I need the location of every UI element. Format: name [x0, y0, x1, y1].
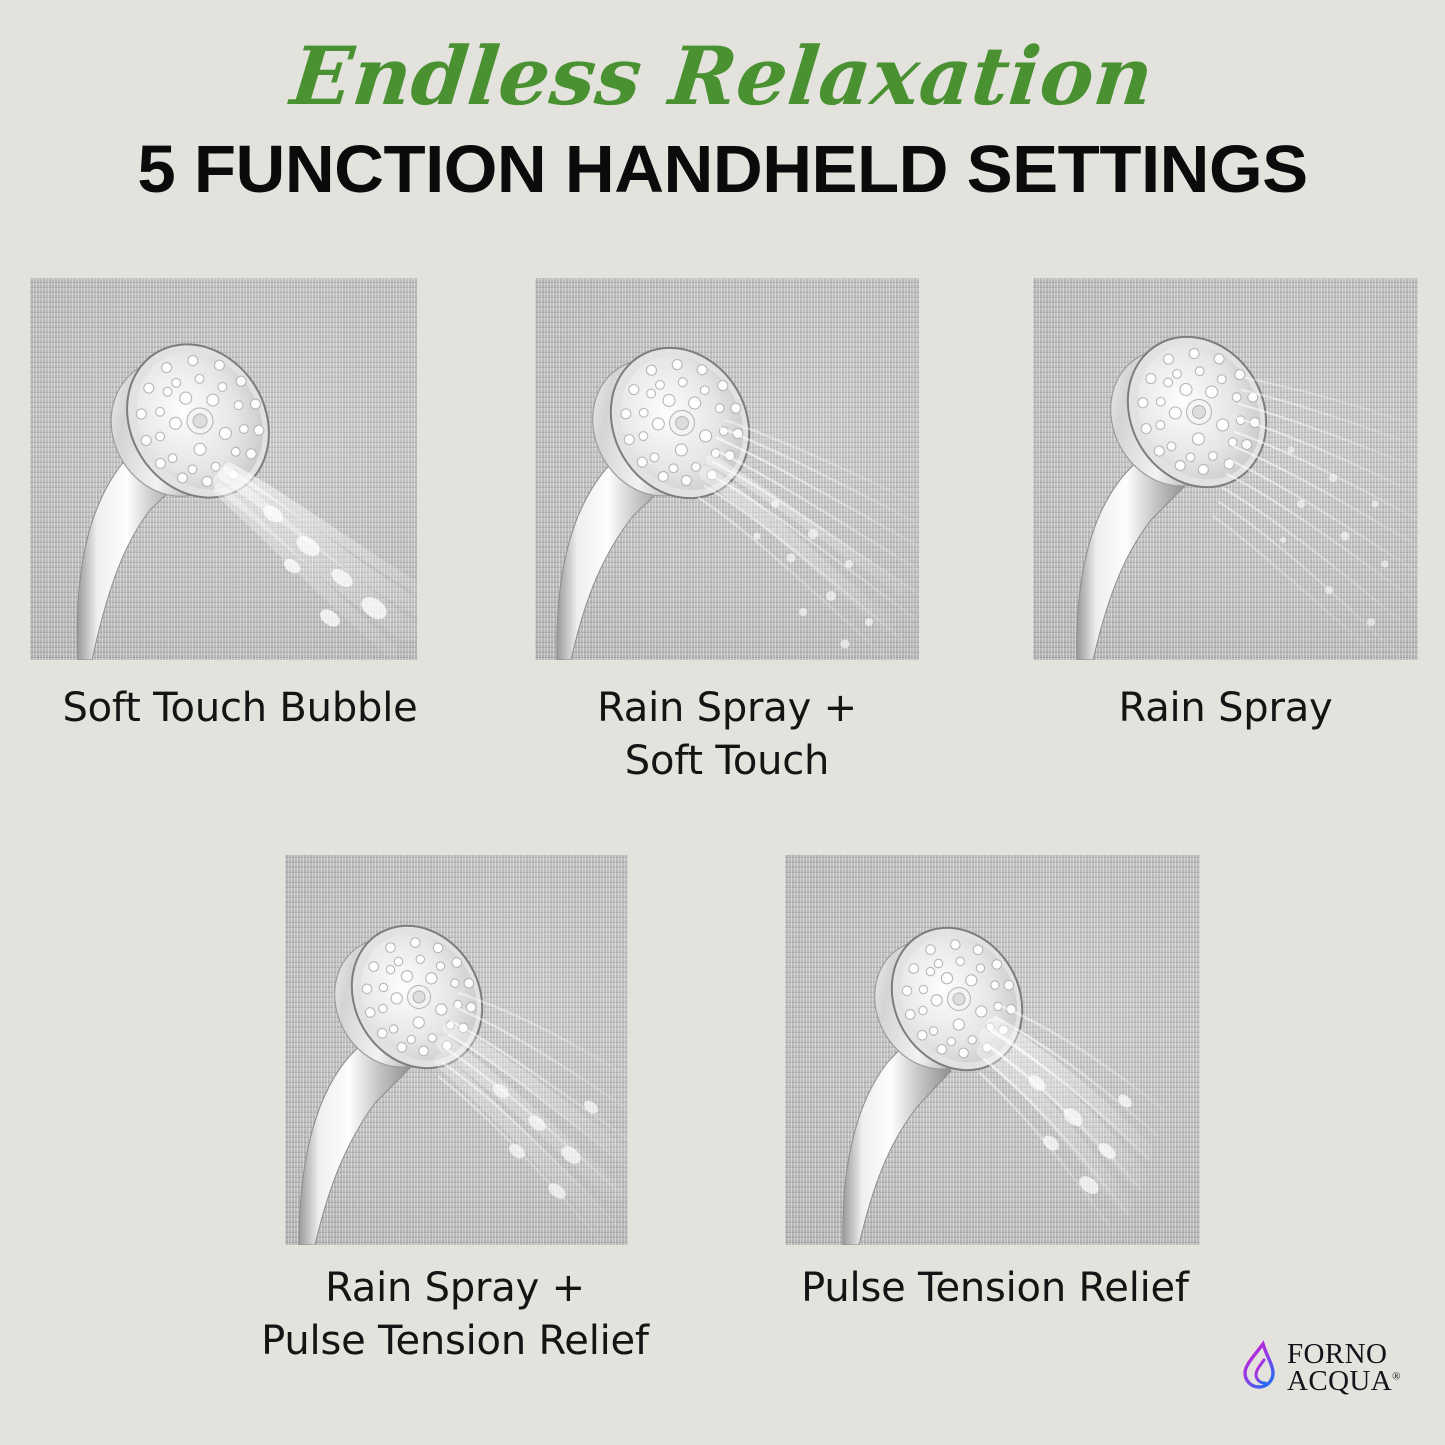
product-photo-rain-spray-soft-touch [535, 278, 919, 660]
registered-trademark-symbol: ® [1392, 1370, 1400, 1382]
setting-caption-rain-spray-pulse: Rain Spray + Pulse Tension Relief [205, 1262, 705, 1368]
setting-caption-pulse-tension-relief: Pulse Tension Relief [745, 1262, 1245, 1315]
setting-tile-rain-spray [1033, 278, 1418, 660]
product-photo-rain-spray-pulse [285, 855, 628, 1245]
brand-line-2: ACQUA® [1287, 1368, 1400, 1395]
setting-tile-rain-spray-pulse [285, 855, 628, 1245]
script-title: Endless Relaxation [0, 36, 1445, 116]
setting-caption-soft-touch-bubble: Soft Touch Bubble [30, 682, 450, 735]
infographic-page: Endless Relaxation 5 FUNCTION HANDHELD S… [0, 0, 1445, 1445]
page-title: 5 FUNCTION HANDHELD SETTINGS [0, 136, 1445, 203]
product-photo-soft-touch-bubble [30, 278, 417, 660]
brand-line-2-text: ACQUA [1287, 1365, 1392, 1397]
setting-tile-rain-spray-soft-touch [535, 278, 919, 660]
brand-wordmark: FORNO ACQUA® [1287, 1341, 1400, 1394]
product-photo-rain-spray [1033, 278, 1418, 660]
setting-caption-rain-spray-soft-touch: Rain Spray + Soft Touch [520, 682, 934, 788]
setting-caption-rain-spray: Rain Spray [1033, 682, 1418, 735]
water-drop-icon [1240, 1340, 1282, 1397]
brand-line-1: FORNO [1287, 1341, 1400, 1368]
brand-logo: FORNO ACQUA® [1240, 1336, 1420, 1400]
product-photo-pulse-tension-relief [785, 855, 1200, 1245]
setting-tile-soft-touch-bubble [30, 278, 417, 660]
setting-tile-pulse-tension-relief [785, 855, 1200, 1245]
